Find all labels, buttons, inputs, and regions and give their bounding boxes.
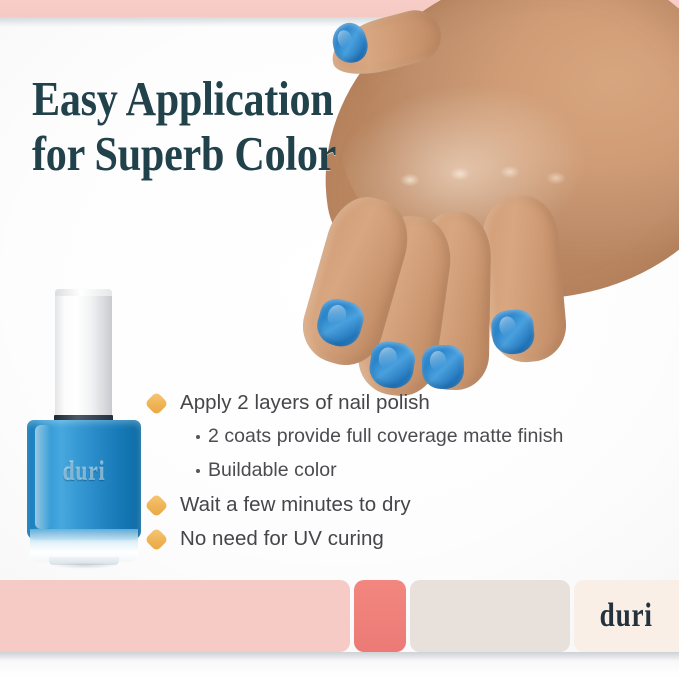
nail-gloss [336, 28, 354, 49]
list-item: Wait a few minutes to dry [148, 491, 658, 524]
swatch-greige [410, 580, 570, 652]
dot-bullet-icon [196, 435, 200, 439]
dot-bullet-icon [196, 469, 200, 473]
nail-gloss [377, 347, 397, 370]
diamond-bullet-icon [144, 527, 168, 551]
diamond-bullet-icon [144, 391, 168, 415]
list-item: 2 coats provide full coverage matte fini… [148, 423, 658, 456]
benefits-list: Apply 2 layers of nail polish 2 coats pr… [148, 389, 658, 559]
list-item: Buildable color [148, 457, 658, 490]
bottle-drop-shadow [41, 561, 129, 570]
swatch-light-pink [0, 580, 350, 652]
diamond-bullet-icon [144, 493, 168, 517]
list-item: No need for UV curing [148, 525, 658, 558]
nail-gloss [498, 316, 516, 338]
painted-nail-pinky [422, 345, 464, 389]
bottle-cap-top [55, 289, 112, 296]
list-item-label: 2 coats provide full coverage matte fini… [208, 423, 563, 449]
list-item-label: No need for UV curing [180, 525, 384, 552]
list-item-label: Apply 2 layers of nail polish [180, 389, 430, 416]
list-item-label: Wait a few minutes to dry [180, 491, 411, 518]
headline-line-2: for Superb Color [32, 127, 316, 182]
list-item: Apply 2 layers of nail polish [148, 389, 658, 422]
headline: Easy Application for Superb Color [32, 72, 316, 182]
knuckles [392, 150, 592, 210]
brand-logo: duri [600, 597, 653, 635]
swatch-cream: duri [574, 580, 679, 652]
bottle-cap [55, 289, 112, 418]
bottle-brand-logo: duri [38, 456, 129, 487]
headline-line-1: Easy Application [32, 72, 316, 127]
list-item-label: Buildable color [208, 457, 337, 483]
nail-polish-bottle: duri [27, 289, 141, 567]
product-infographic: Easy Application for Superb Color duri A… [0, 0, 679, 679]
swatch-bar-shadow [0, 652, 679, 661]
nail-gloss [430, 351, 447, 371]
color-swatch-bar: duri [0, 580, 679, 652]
swatch-coral [354, 580, 406, 652]
hand-photo [300, 0, 679, 400]
nail-gloss [325, 303, 348, 328]
